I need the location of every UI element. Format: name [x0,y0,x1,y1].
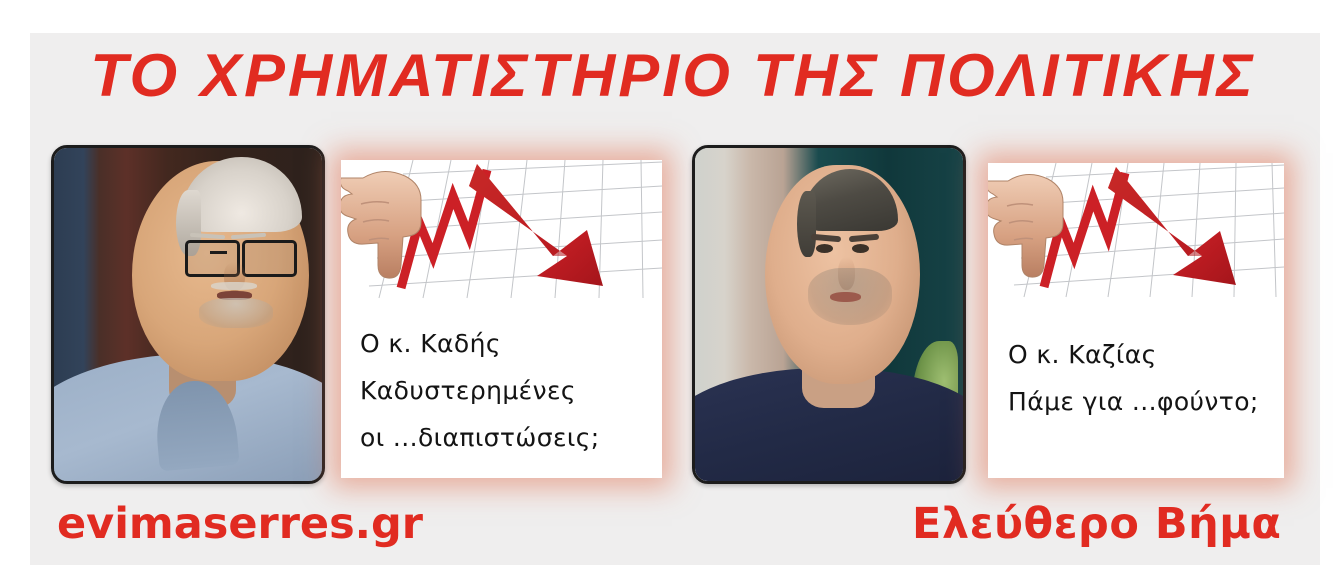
caption-line: Καδυστερημένες [360,367,650,414]
portrait-kazias-image [695,148,963,481]
speech-card-kadis-text: Ο κ. Καδής Καδυστερημένες οι ...διαπιστώ… [360,320,650,461]
speech-card-kazias-text: Ο κ. Καζίας Πάμε για ...φούντο; [1008,331,1272,425]
portrait-kazias [692,145,966,484]
page-title: ΤΟ ΧΡΗΜΑΤΙΣΤΗΡΙΟ ΤΗΣ ΠΟΛΙΤΙΚΗΣ [31,40,1314,112]
thumbs-down-declining-chart-icon [988,163,1284,299]
portrait-kadis [51,145,325,484]
caption-line: Ο κ. Καδής [360,320,650,367]
caption-line: Ο κ. Καζίας [1008,331,1272,378]
speech-card-kadis: Ο κ. Καδής Καδυστερημένες οι ...διαπιστώ… [341,160,662,478]
portrait-hair [802,169,898,231]
footer-site-name[interactable]: evimaserres.gr [57,498,423,550]
portrait-hair-side [797,191,816,257]
thumbs-down-declining-chart-icon [341,160,662,300]
portrait-mouth [830,292,861,302]
caption-line: οι ...διαπιστώσεις; [360,414,650,461]
caption-line: Πάμε για ...φούντο; [1008,378,1272,425]
footer-publication-name[interactable]: Ελεύθερο Βήμα [912,498,1281,550]
political-stock-exchange-banner: ΤΟ ΧΡΗΜΑΤΙΣΤΗΡΙΟ ΤΗΣ ΠΟΛΙΤΙΚΗΣ [0,0,1338,581]
portrait-glasses-bridge [210,251,228,254]
portrait-eyebrow-right [848,234,878,243]
portrait-face [132,161,309,381]
portrait-beard [199,298,273,329]
portrait-moustache [211,282,257,290]
portrait-face [765,165,920,385]
portrait-eye-left [816,244,833,253]
portrait-kadis-image [54,148,322,481]
portrait-eye-right [852,244,869,253]
speech-card-kazias: Ο κ. Καζίας Πάμε για ...φούντο; [988,163,1284,478]
portrait-eyebrow-right [231,233,267,239]
